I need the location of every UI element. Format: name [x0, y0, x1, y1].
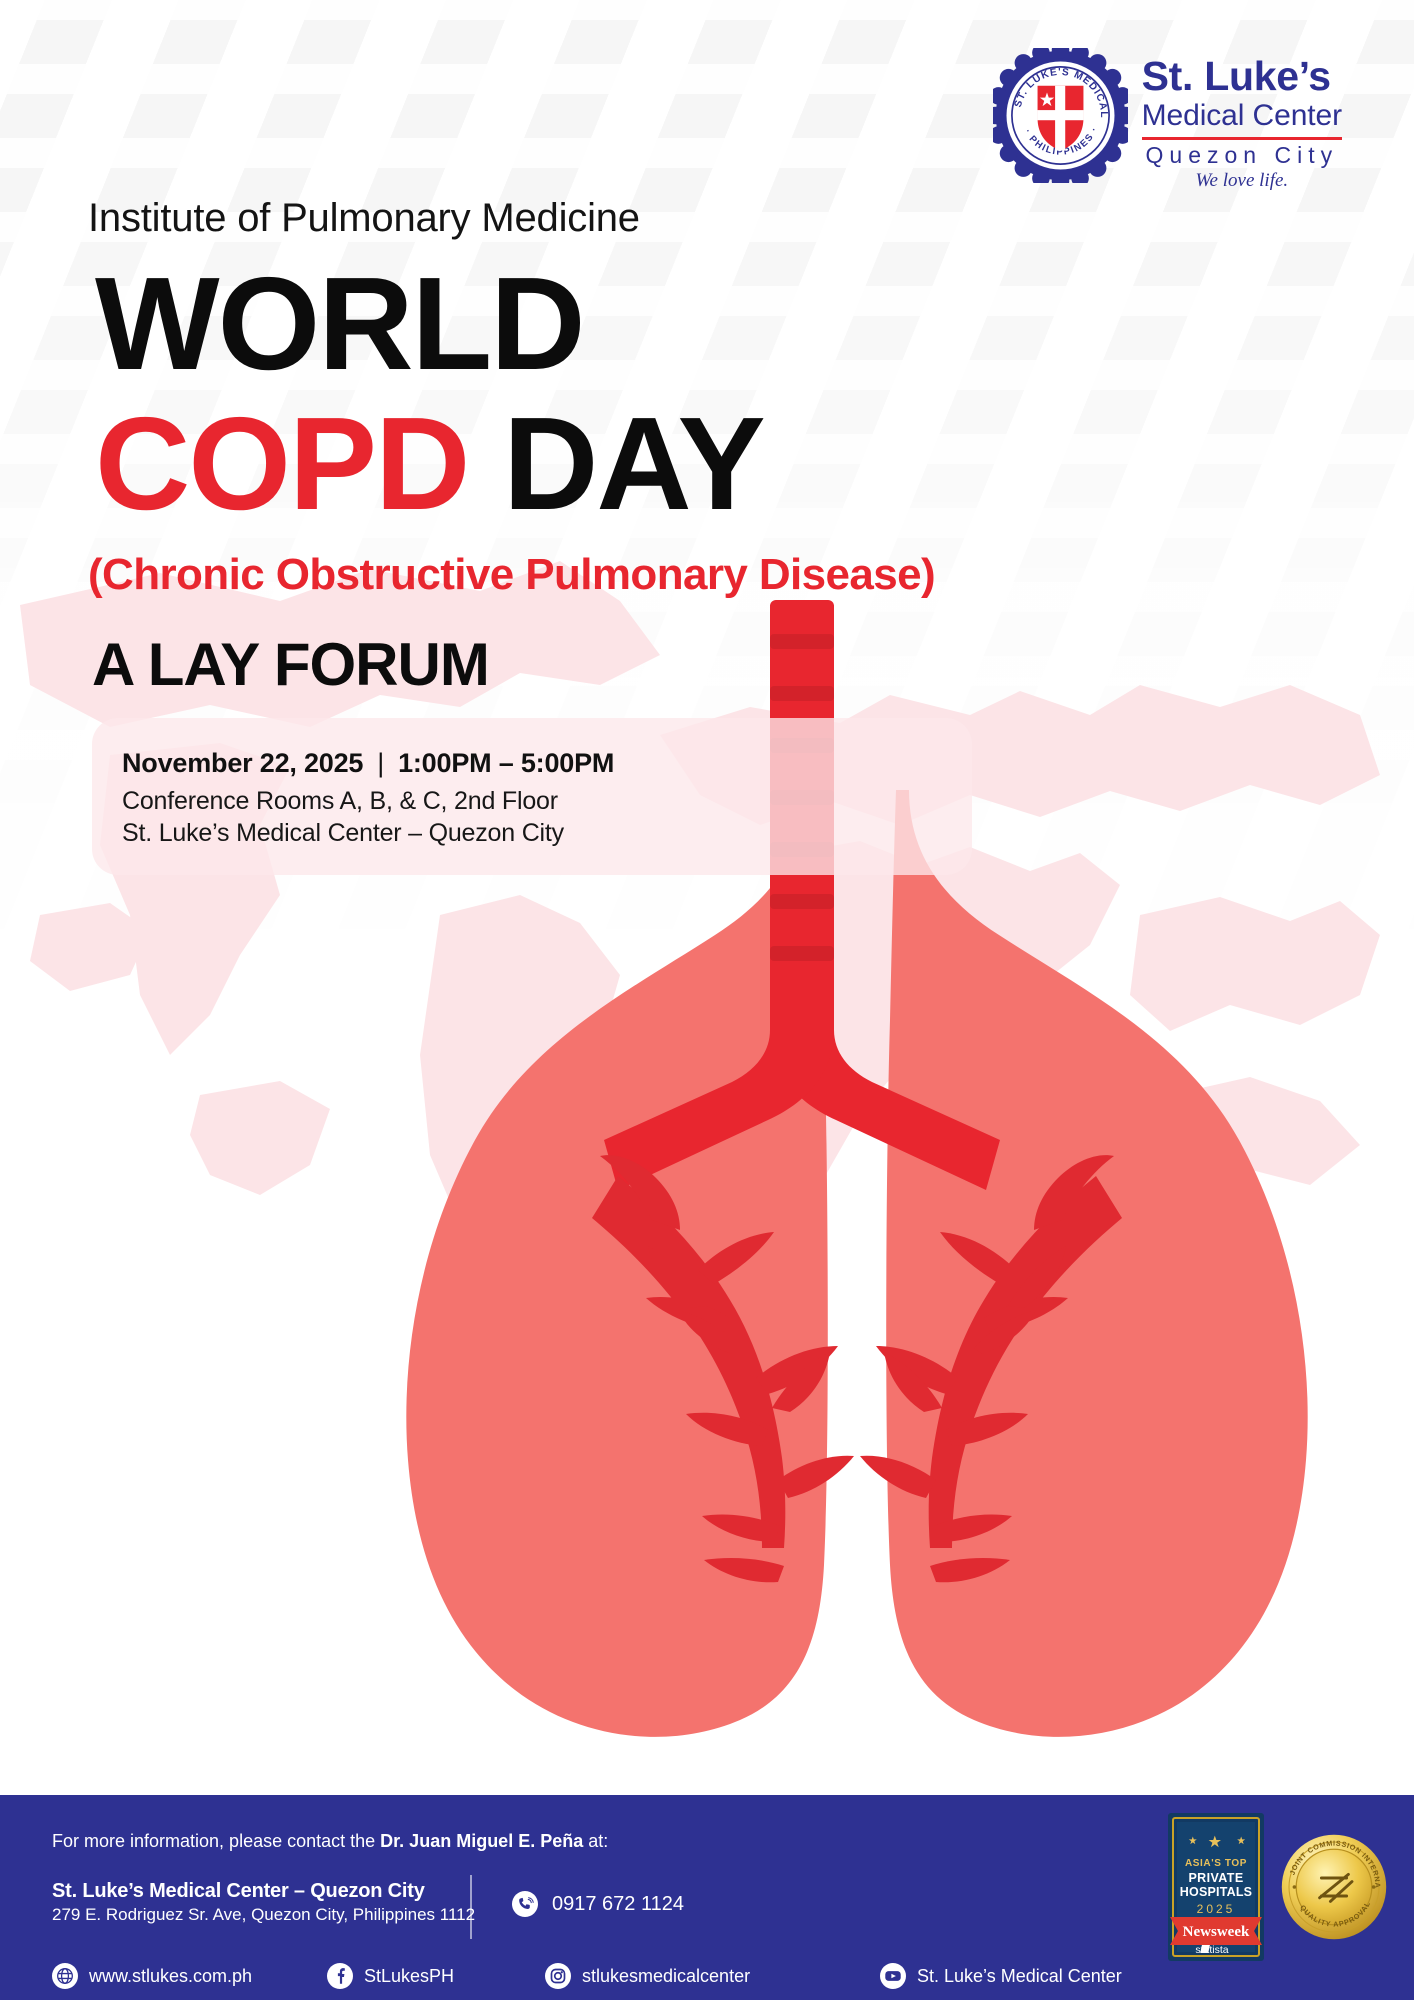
title-day: DAY [503, 390, 764, 537]
footer-contact-prefix: For more information, please contact the [52, 1831, 380, 1851]
event-venue-site: St. Luke’s Medical Center – Quezon City [122, 817, 972, 849]
social-facebook-label: StLukesPH [364, 1966, 454, 1987]
event-datetime: November 22, 2025|1:00PM – 5:00PM [122, 748, 972, 779]
youtube-icon [880, 1963, 906, 1989]
facebook-icon [327, 1963, 353, 1989]
event-date: November 22, 2025 [122, 748, 363, 778]
poster-canvas: ST. LUKE'S MEDICAL CENTER · PHILIPPINES … [0, 0, 1414, 2000]
institute-label: Institute of Pulmonary Medicine [88, 196, 640, 241]
footer-bar: For more information, please contact the… [0, 1795, 1414, 2000]
title-subtitle: (Chronic Obstructive Pulmonary Disease) [88, 550, 935, 600]
logo-name-line2: Medical Center [1142, 99, 1342, 134]
footer-phone[interactable]: 0917 672 1124 [512, 1891, 684, 1917]
event-venue-room: Conference Rooms A, B, & C, 2nd Floor [122, 785, 972, 817]
social-facebook[interactable]: StLukesPH [327, 1963, 545, 1989]
title-forum: A LAY FORUM [92, 630, 489, 699]
footer-address-street: 279 E. Rodriguez Sr. Ave, Quezon City, P… [52, 1905, 475, 1925]
title-copd: COPD [95, 390, 468, 537]
event-time: 1:00PM – 5:00PM [398, 748, 614, 778]
event-separator: | [377, 748, 384, 778]
title-world: WORLD [95, 258, 584, 390]
newsweek-year: 2025 [1197, 1902, 1236, 1916]
newsweek-brand: Newsweek [1183, 1924, 1250, 1940]
newsweek-line3: HOSPITALS [1180, 1885, 1252, 1899]
footer-socials: www.stlukes.com.ph StLukesPH stlukesmedi… [52, 1963, 1122, 1989]
social-youtube-label: St. Luke’s Medical Center [917, 1966, 1122, 1987]
newsweek-source: statista [1195, 1944, 1228, 1956]
social-website-label: www.stlukes.com.ph [89, 1966, 252, 1987]
footer-vertical-divider [470, 1875, 472, 1939]
footer-contact-suffix: at: [583, 1831, 608, 1851]
footer-phone-number: 0917 672 1124 [552, 1893, 684, 1916]
logo-divider-rule [1142, 137, 1342, 140]
footer-address-name: St. Luke’s Medical Center – Quezon City [52, 1880, 475, 1903]
award-badges: ASIA'S TOP PRIVATE HOSPITALS 2025 Newswe… [1168, 1813, 1388, 1961]
social-website[interactable]: www.stlukes.com.ph [52, 1963, 327, 1989]
st-lukes-logo: ST. LUKE'S MEDICAL CENTER · PHILIPPINES … [993, 48, 1342, 192]
newsweek-badge: ASIA'S TOP PRIVATE HOSPITALS 2025 Newswe… [1168, 1813, 1264, 1961]
globe-icon [52, 1963, 78, 1989]
instagram-icon [545, 1963, 571, 1989]
social-youtube[interactable]: St. Luke’s Medical Center [880, 1963, 1122, 1989]
jci-gold-seal-badge: JOINT COMMISSION INTERNATIONAL QUALITY A… [1280, 1833, 1388, 1941]
event-details-card: November 22, 2025|1:00PM – 5:00PM Confer… [92, 718, 972, 875]
logo-name-line1: St. Luke’s [1142, 56, 1342, 97]
newsweek-line1: ASIA'S TOP [1185, 1858, 1247, 1869]
newsweek-line2: PRIVATE [1188, 1871, 1243, 1885]
social-instagram-label: stlukesmedicalcenter [582, 1966, 750, 1987]
logo-name-line3: Quezon City [1142, 142, 1342, 170]
title-copd-day: COPD DAY [95, 398, 764, 530]
st-lukes-seal-icon: ST. LUKE'S MEDICAL CENTER · PHILIPPINES … [993, 48, 1128, 183]
phone-icon [512, 1891, 538, 1917]
logo-tagline: We love life. [1142, 170, 1342, 192]
footer-contact-line: For more information, please contact the… [52, 1831, 608, 1852]
footer-address: St. Luke’s Medical Center – Quezon City … [52, 1880, 475, 1925]
footer-contact-person: Dr. Juan Miguel E. Peña [380, 1831, 583, 1851]
social-instagram[interactable]: stlukesmedicalcenter [545, 1963, 880, 1989]
